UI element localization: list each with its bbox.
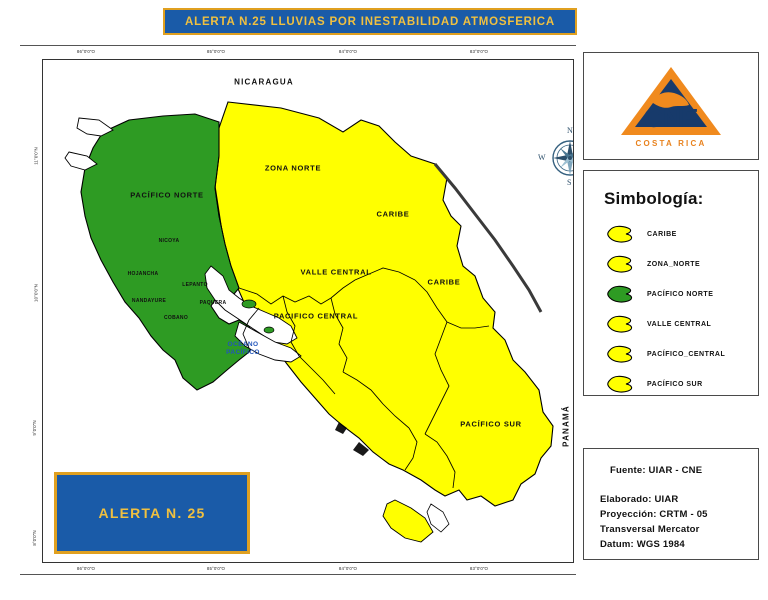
- map-label-lepanto: LEPANTO: [182, 282, 208, 288]
- cne-triangle-icon: CNE: [619, 65, 723, 137]
- info-datum: Datum: WGS 1984: [600, 537, 750, 552]
- cne-logo: CNE COSTA RICA: [584, 53, 758, 159]
- coord-bottom-1: 86°0'0"O: [77, 566, 95, 571]
- coord-top-3: 84°0'0"O: [339, 49, 357, 54]
- legend-title: Simbología:: [604, 189, 703, 209]
- info-elaborado: Elaborado: UIAR: [600, 492, 750, 507]
- compass-rose: N S E W: [535, 118, 574, 194]
- ocean-line-1: OCÉANO: [228, 341, 259, 348]
- map-label-pacifico-sur: PACÍFICO SUR: [460, 420, 522, 429]
- legend-swatch-icon: [606, 373, 638, 395]
- compass-label-south: S: [567, 178, 571, 187]
- legend-swatch-icon: [606, 313, 638, 335]
- legend-label: PACÍFICO_CENTRAL: [647, 351, 725, 358]
- info-mercator: Transversal Mercator: [600, 522, 750, 537]
- osa-peninsula: [383, 500, 433, 542]
- legend-panel: Simbología: CARIBE ZONA_NORTE PACÍFICO N…: [583, 170, 759, 396]
- coord-left-2: 10°0'0"N: [33, 284, 38, 302]
- info-source: Fuente: UIAR - CNE: [600, 463, 750, 478]
- map-frame: 86°0'0"O 85°0'0"O 84°0'0"O 83°0'0"O 86°0…: [20, 45, 576, 575]
- legend-swatch-icon: [606, 223, 638, 245]
- legend-label: VALLE CENTRAL: [647, 321, 711, 328]
- title-banner: ALERTA N.25 LLUVIAS POR INESTABILIDAD AT…: [163, 8, 577, 35]
- coord-bottom-2: 85°0'0"O: [207, 566, 225, 571]
- coord-bottom-3: 84°0'0"O: [339, 566, 357, 571]
- info-panel: Fuente: UIAR - CNE Elaborado: UIAR Proye…: [583, 448, 759, 560]
- ocean-line-2: PACÍFICO: [226, 349, 260, 356]
- coord-top-2: 85°0'0"O: [207, 49, 225, 54]
- map-canvas[interactable]: ZONA NORTE PACÍFICO NORTE CARIBE VALLE C…: [42, 59, 574, 563]
- legend-label: ZONA_NORTE: [647, 261, 700, 268]
- legend-label: CARIBE: [647, 231, 677, 238]
- island-small: [264, 327, 274, 333]
- coord-bottom-4: 83°0'0"O: [470, 566, 488, 571]
- compass-label-north: N: [567, 126, 573, 135]
- map-label-oceano-pacifico: OCÉANO PACÍFICO: [226, 341, 260, 357]
- compass-label-west: W: [538, 153, 546, 162]
- legend-item-pacifico-norte[interactable]: PACÍFICO NORTE: [606, 279, 752, 309]
- legend-swatch-icon: [606, 283, 638, 305]
- svg-text:CNE: CNE: [644, 103, 699, 133]
- info-content: Fuente: UIAR - CNE Elaborado: UIAR Proye…: [600, 463, 750, 552]
- legend-item-zona-norte[interactable]: ZONA_NORTE: [606, 249, 752, 279]
- coord-left-4: 8°0'0"N: [32, 530, 37, 545]
- legend-swatch-icon: [606, 253, 638, 275]
- map-label-pacifico-norte: PACÍFICO NORTE: [130, 191, 203, 200]
- map-label-pacifico-central: PACIFICO CENTRAL: [274, 312, 358, 321]
- coord-left-1: 11°0'0"N: [33, 147, 38, 165]
- legend-list: CARIBE ZONA_NORTE PACÍFICO NORTE VALLE C…: [606, 219, 752, 399]
- map-label-paquera: PAQUERA: [200, 300, 227, 306]
- coord-top-4: 83°0'0"O: [470, 49, 488, 54]
- island-chira: [242, 300, 256, 308]
- map-page: ALERTA N.25 LLUVIAS POR INESTABILIDAD AT…: [0, 0, 768, 600]
- map-label-caribe-2: CARIBE: [428, 278, 461, 287]
- map-label-cobano: COBANO: [164, 315, 188, 321]
- legend-item-pacifico-central[interactable]: PACÍFICO_CENTRAL: [606, 339, 752, 369]
- alerta-badge: ALERTA N. 25: [54, 472, 250, 554]
- coord-top-1: 86°0'0"O: [77, 49, 95, 54]
- coord-left-3: 9°0'0"N: [32, 420, 37, 435]
- legend-item-valle-central[interactable]: VALLE CENTRAL: [606, 309, 752, 339]
- legend-label: PACÍFICO SUR: [647, 381, 703, 388]
- info-proyeccion: Proyección: CRTM - 05: [600, 507, 750, 522]
- map-label-nicaragua: NICARAGUA: [234, 78, 294, 87]
- map-label-nandayure: NANDAYURE: [132, 298, 166, 304]
- legend-item-caribe[interactable]: CARIBE: [606, 219, 752, 249]
- legend-item-pacifico-sur[interactable]: PACÍFICO SUR: [606, 369, 752, 399]
- title-text: ALERTA N.25 LLUVIAS POR INESTABILIDAD AT…: [185, 16, 555, 28]
- map-label-panama: PANAMÁ: [562, 405, 571, 447]
- legend-label: PACÍFICO NORTE: [647, 291, 713, 298]
- alerta-badge-text: ALERTA N. 25: [99, 505, 206, 521]
- map-label-zona-norte: ZONA NORTE: [265, 164, 321, 173]
- cne-logo-subtitle: COSTA RICA: [636, 139, 707, 148]
- logo-panel: CNE COSTA RICA: [583, 52, 759, 160]
- map-label-caribe-1: CARIBE: [377, 210, 410, 219]
- map-label-hojancha: HOJANCHA: [128, 271, 159, 277]
- map-label-valle-central: VALLE CENTRAL: [300, 268, 371, 277]
- legend-swatch-icon: [606, 343, 638, 365]
- map-label-nicoya: NICOYA: [159, 238, 180, 244]
